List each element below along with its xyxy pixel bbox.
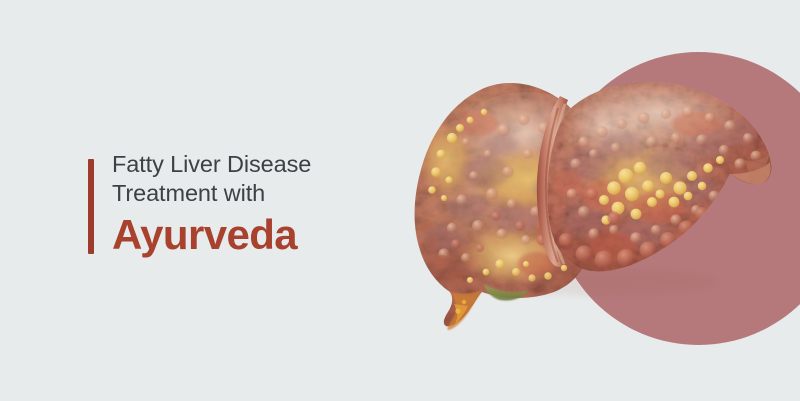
fatty-liver-illustration: [408, 68, 780, 340]
artwork-area: [400, 20, 800, 380]
headline-group: Fatty Liver Disease Treatment with Ayurv…: [112, 150, 412, 260]
liver-right-lobe: [547, 82, 780, 286]
vertical-accent-bar: [88, 159, 94, 254]
hero-banner: Fatty Liver Disease Treatment with Ayurv…: [0, 0, 800, 401]
subtitle-line-1: Fatty Liver Disease: [112, 150, 412, 179]
headline-text-block: Fatty Liver Disease Treatment with Ayurv…: [88, 150, 408, 260]
subtitle-line-2: Treatment with: [112, 179, 412, 208]
page-title: Ayurveda: [112, 210, 412, 260]
